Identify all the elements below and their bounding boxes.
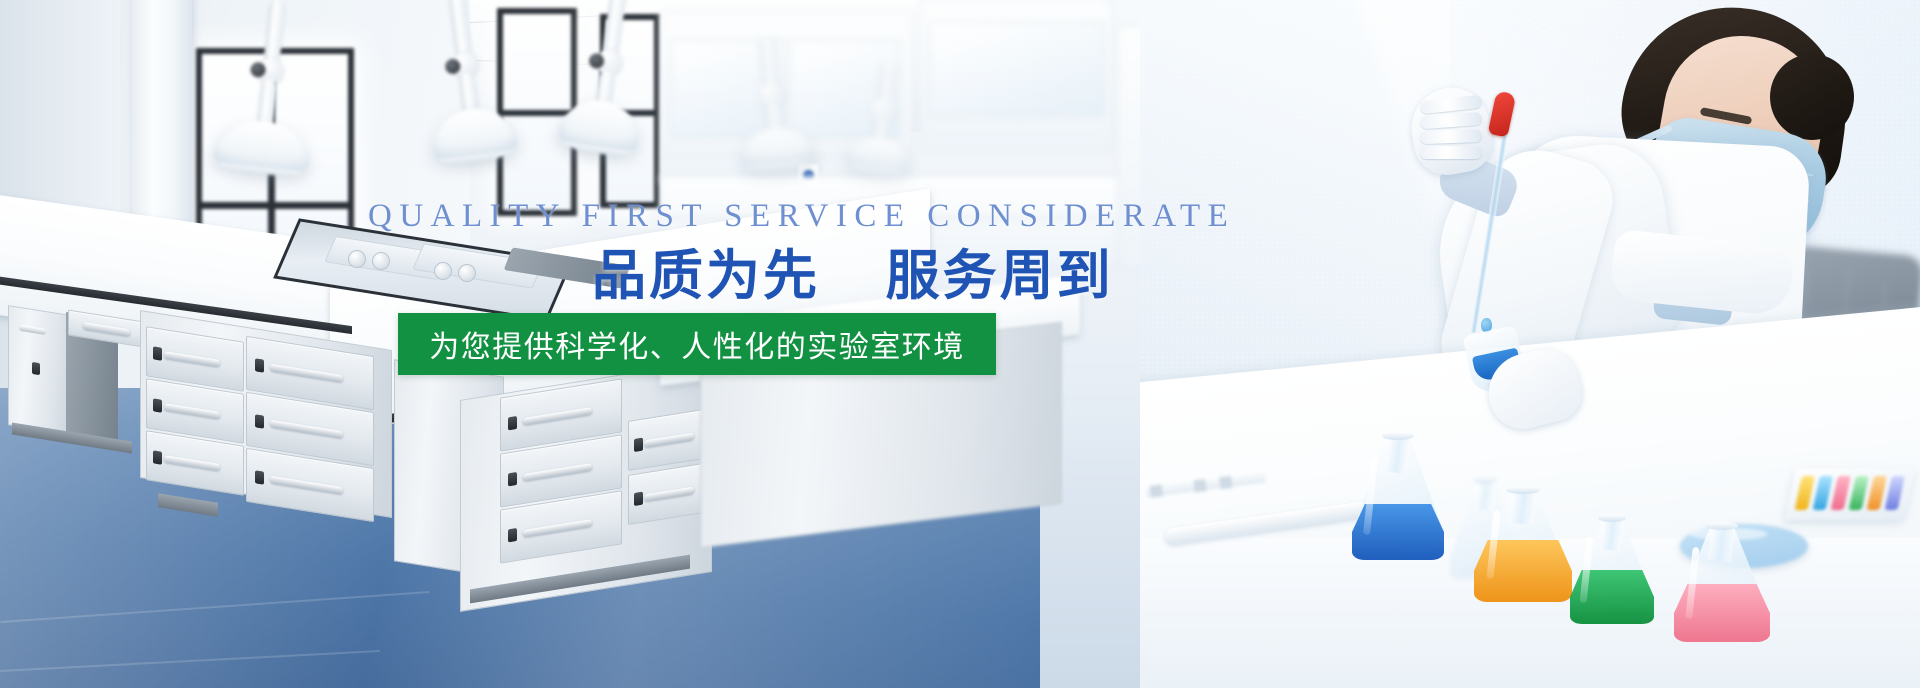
banner-eyebrow-english: QUALITY FIRST SERVICE CONSIDERATE: [368, 200, 1028, 233]
banner-subtitle-text: 为您提供科学化、人性化的实验室环境: [429, 322, 965, 366]
headline-part-left: 品质为先: [592, 244, 820, 307]
headline-part-right: 服务周到: [886, 244, 1114, 307]
banner-headline: 品质为先 服务周到: [592, 248, 1114, 304]
banner-copy: QUALITY FIRST SERVICE CONSIDERATE 品质为先 服…: [0, 0, 1920, 688]
hero-banner: QUALITY FIRST SERVICE CONSIDERATE 品质为先 服…: [0, 0, 1920, 688]
banner-subtitle-bar: 为您提供科学化、人性化的实验室环境: [398, 313, 996, 375]
